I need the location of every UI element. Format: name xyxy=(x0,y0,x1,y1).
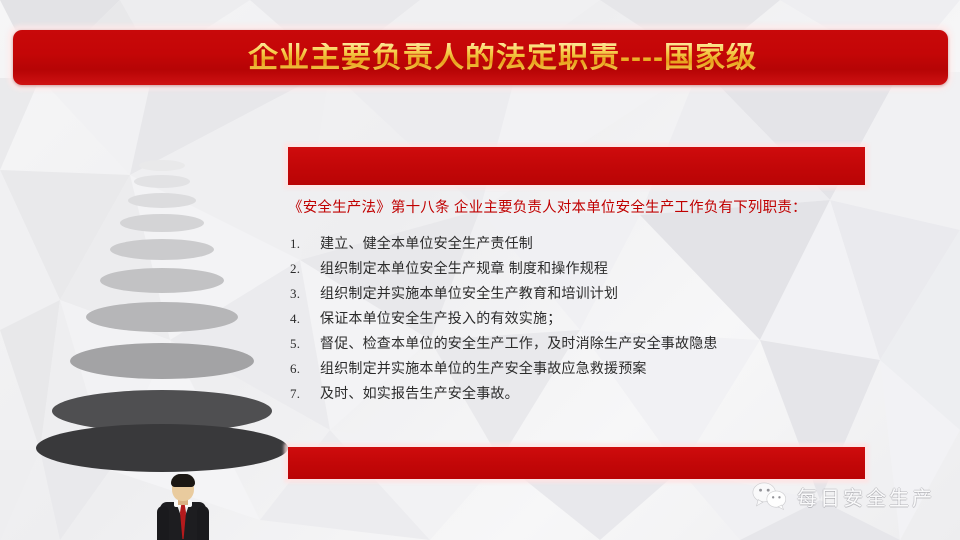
list-item: 组织制定并实施本单位的生产安全事故应急救援预案 xyxy=(288,356,878,381)
watermark: 每日安全生产 xyxy=(752,481,935,511)
stepping-stones-illustration xyxy=(0,140,300,500)
content-block: 《安全生产法》第十八条 企业主要负责人对本单位安全生产工作负有下列职责： 建立、… xyxy=(288,196,878,406)
stone-7 xyxy=(86,302,238,332)
slide-canvas: 企业主要负责人的法定职责----国家级 《安全生产法》第十八条 企业主要负责人对… xyxy=(0,0,960,540)
list-item: 保证本单位安全生产投入的有效实施； xyxy=(288,306,878,331)
stone-10 xyxy=(36,424,288,472)
figure-hair xyxy=(171,474,195,487)
stone-4 xyxy=(120,214,204,232)
duties-list: 建立、健全本单位安全生产责任制 组织制定本单位安全生产规章 制度和操作规程 组织… xyxy=(288,231,878,406)
watermark-text: 每日安全生产 xyxy=(797,482,935,511)
intro-paragraph: 《安全生产法》第十八条 企业主要负责人对本单位安全生产工作负有下列职责： xyxy=(288,196,878,221)
wechat-icon xyxy=(752,481,788,511)
stone-1 xyxy=(139,160,185,171)
top-red-bar xyxy=(288,147,865,185)
stone-3 xyxy=(128,193,196,208)
stone-5 xyxy=(110,239,214,260)
businessman-figure xyxy=(146,472,220,540)
figure-arm-left xyxy=(157,506,169,540)
stone-2 xyxy=(134,175,190,188)
list-item: 组织制定本单位安全生产规章 制度和操作规程 xyxy=(288,256,878,281)
stone-8 xyxy=(70,343,254,379)
page-title: 企业主要负责人的法定职责----国家级 xyxy=(204,43,757,73)
list-item: 组织制定并实施本单位安全生产教育和培训计划 xyxy=(288,281,878,306)
title-banner: 企业主要负责人的法定职责----国家级 xyxy=(13,30,948,85)
list-item: 建立、健全本单位安全生产责任制 xyxy=(288,231,878,256)
bottom-red-bar xyxy=(288,447,865,479)
stone-6 xyxy=(100,268,224,293)
list-item: 督促、检查本单位的安全生产工作，及时消除生产安全事故隐患 xyxy=(288,331,878,356)
figure-arm-right xyxy=(197,506,209,540)
list-item: 及时、如实报告生产安全事故。 xyxy=(288,381,878,406)
